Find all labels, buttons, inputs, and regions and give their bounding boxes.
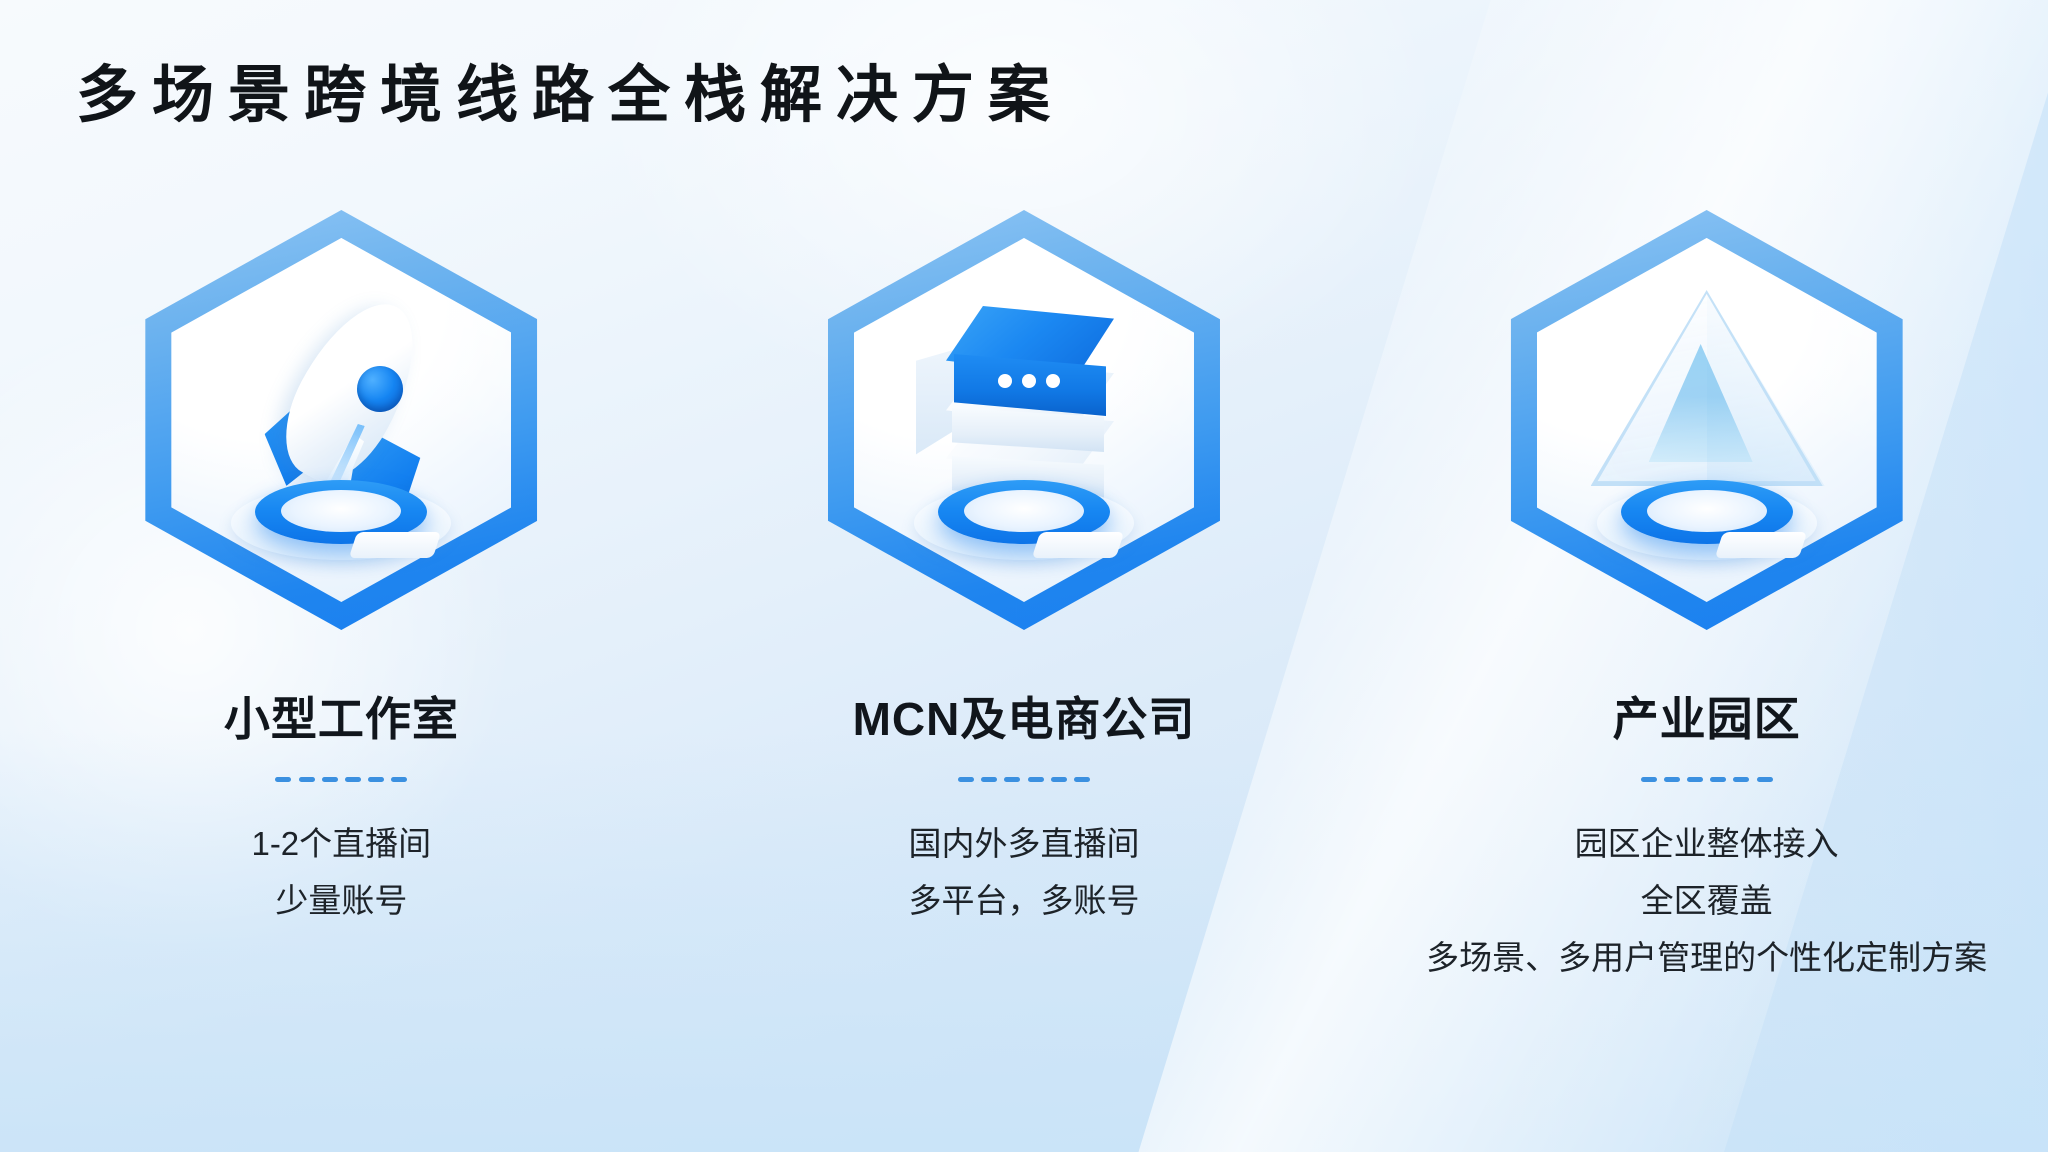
divider-dash [1074, 777, 1090, 782]
card-line: 国内外多直播间 [908, 816, 1139, 873]
server-dot [1022, 374, 1036, 388]
card-divider-3 [1641, 777, 1773, 782]
server-status-dots-icon [998, 374, 1060, 388]
rocket-icon [191, 270, 491, 570]
card-description-3: 园区企业整体接入 全区覆盖 多场景、多用户管理的个性化定制方案 [1426, 816, 1987, 986]
hexagon-badge-3 [1511, 210, 1903, 630]
card-description-1: 1-2个直播间 少量账号 [251, 816, 431, 930]
hexagon-badge-2 [828, 210, 1220, 630]
divider-dash [1687, 777, 1703, 782]
divider-dash [391, 777, 407, 782]
ring-hole-2 [964, 490, 1084, 532]
glow-ring-base-2 [914, 474, 1134, 560]
page-title: 多场景跨境线路全栈解决方案 [76, 62, 1064, 130]
server-dot [998, 374, 1012, 388]
divider-dash [1710, 777, 1726, 782]
card-line: 全区覆盖 [1426, 873, 1987, 930]
server-dot [1046, 374, 1060, 388]
card-small-studio[interactable]: 小型工作室 1-2个直播间 少量账号 [21, 210, 661, 930]
divider-dash [275, 777, 291, 782]
divider-dash [345, 777, 361, 782]
divider-dash [1051, 777, 1067, 782]
ring-hole-1 [281, 490, 401, 532]
card-title-3: 产业园区 [1613, 692, 1801, 747]
card-line: 多平台，多账号 [908, 873, 1139, 930]
card-title-2: MCN及电商公司 [853, 692, 1196, 747]
divider-dash [299, 777, 315, 782]
divider-dash [1641, 777, 1657, 782]
card-line: 1-2个直播间 [251, 816, 431, 873]
card-description-2: 国内外多直播间 多平台，多账号 [908, 816, 1139, 930]
glow-ring-base-1 [231, 474, 451, 560]
card-mcn-ecommerce[interactable]: MCN及电商公司 国内外多直播间 多平台，多账号 [704, 210, 1344, 930]
divider-dash [1028, 777, 1044, 782]
glow-ring-base-3 [1597, 474, 1817, 560]
divider-dash [368, 777, 384, 782]
divider-dash [1733, 777, 1749, 782]
divider-dash [1004, 777, 1020, 782]
divider-dash [981, 777, 997, 782]
card-divider-1 [275, 777, 407, 782]
card-line: 园区企业整体接入 [1426, 816, 1987, 873]
ring-hole-3 [1647, 490, 1767, 532]
divider-dash [322, 777, 338, 782]
pyramid-icon [1557, 270, 1857, 570]
hexagon-badge-1 [145, 210, 537, 630]
card-title-1: 小型工作室 [224, 692, 459, 747]
solution-cards-row: 小型工作室 1-2个直播间 少量账号 [0, 210, 2048, 986]
card-line: 少量账号 [251, 873, 431, 930]
server-stack-icon [874, 270, 1174, 570]
card-divider-2 [958, 777, 1090, 782]
card-line: 多场景、多用户管理的个性化定制方案 [1426, 930, 1987, 987]
rocket-window-icon [357, 366, 403, 412]
divider-dash [958, 777, 974, 782]
divider-dash [1664, 777, 1680, 782]
ring-notch-1 [349, 532, 441, 558]
ring-notch-3 [1714, 532, 1806, 558]
divider-dash [1757, 777, 1773, 782]
ring-notch-2 [1032, 532, 1124, 558]
card-industrial-park[interactable]: 产业园区 园区企业整体接入 全区覆盖 多场景、多用户管理的个性化定制方案 [1387, 210, 2027, 986]
